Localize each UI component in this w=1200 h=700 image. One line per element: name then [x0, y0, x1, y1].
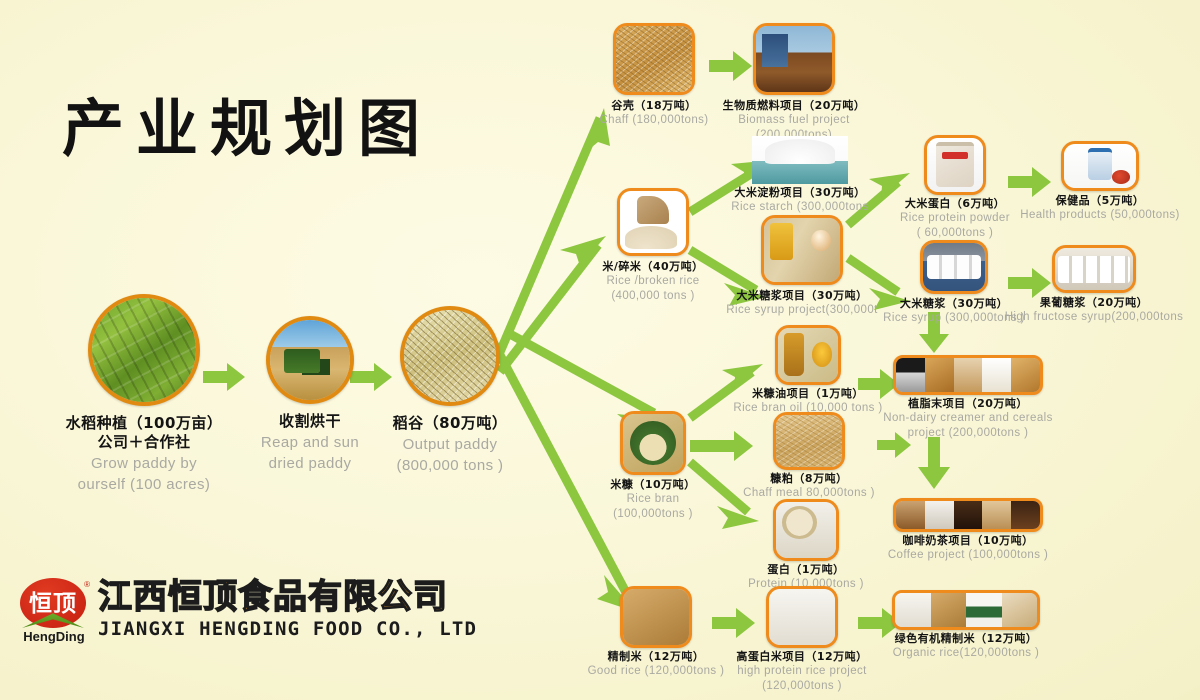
coffee-project-label-cn: 咖啡奶茶项目（10万吨）: [863, 534, 1073, 548]
rice-starch-label-cn: 大米淀粉项目（30万吨）: [695, 186, 905, 200]
company-logo-block: 恒顶 ® HengDing 江西恒顶食品有限公司 JIANGXI HENGDIN…: [18, 578, 477, 642]
biomass-photo: [753, 23, 835, 95]
rice-starch-photo: [752, 136, 848, 184]
node-good-rice[interactable]: 精制米（12万吨） Good rice (120,000tons ): [620, 586, 692, 648]
coffee-project-label-en: Coffee project (100,000tons ): [863, 549, 1073, 563]
fructose-syrup-label-en: High fructose syrup(200,000tons: [989, 311, 1199, 325]
logo-mark-en: HengDing: [18, 629, 90, 644]
node-rice-syrup-project[interactable]: 大米糖浆项目（30万吨） Rice syrup project(300,000t: [761, 215, 843, 285]
node-rice-broken-rice[interactable]: 米/碎米（40万吨） Rice /broken rice (400,000 to…: [617, 188, 689, 256]
industry-planning-diagram: 产业规划图 水稻种植（100万亩） 公司＋合作社 Grow paddy by o…: [0, 0, 1200, 700]
reap-photo: [266, 316, 354, 404]
rice-starch-label-en: Rice starch (300,000tons: [695, 201, 905, 215]
company-name-block: 江西恒顶食品有限公司 JIANGXI HENGDING FOOD CO., LT…: [98, 580, 477, 640]
organic-rice-caption: 绿色有机精制米（12万吨） Organic rice(120,000tons ): [861, 632, 1071, 661]
non-dairy-creamer-label-cn: 植脂末项目（20万吨）: [868, 397, 1068, 411]
block-arrow-reap-to-output: [350, 363, 392, 391]
rice-broken-label-en-1: Rice /broken rice: [563, 275, 743, 289]
non-dairy-creamer-photo: [893, 355, 1043, 395]
health-products-photo: [1061, 141, 1139, 191]
high-protein-rice-label-en-1: high protein rice project: [717, 665, 887, 679]
high-protein-rice-photo: [766, 586, 838, 648]
node-non-dairy-creamer[interactable]: 植脂末项目（20万吨） Non-dairy creamer and cereal…: [893, 355, 1043, 395]
block-arrow-grow-to-reap: [203, 363, 245, 391]
rice-bran-label-cn: 米糠（10万吨）: [573, 478, 733, 492]
node-health-products[interactable]: 保健品（5万吨） Health products (50,000tons): [1061, 141, 1139, 191]
non-dairy-creamer-caption: 植脂末项目（20万吨） Non-dairy creamer and cereal…: [868, 397, 1068, 440]
output-paddy-label-en-2: (800,000 tons ): [350, 457, 550, 475]
biomass-label-en-1: Biomass fuel project: [709, 114, 879, 128]
health-products-caption: 保健品（5万吨） Health products (50,000tons): [1000, 194, 1200, 223]
organic-rice-photo: [892, 590, 1040, 630]
output-paddy-caption: 稻谷（80万吨） Output paddy (800,000 tons ): [350, 414, 550, 475]
node-rice-bran[interactable]: 米糠（10万吨） Rice bran (100,000tons ): [620, 411, 686, 475]
good-rice-photo: [620, 586, 692, 648]
chaff-photo: [613, 23, 695, 95]
block-arrow-chaff-to-biomass: [709, 51, 752, 81]
protein-photo: [773, 499, 839, 561]
company-name-cn: 江西恒顶食品有限公司: [98, 580, 477, 616]
output-paddy-label-cn: 稻谷（80万吨）: [350, 414, 550, 433]
company-name-en: JIANGXI HENGDING FOOD CO., LTD: [98, 618, 477, 640]
node-coffee-project[interactable]: 咖啡奶茶项目（10万吨） Coffee project (100,000tons…: [893, 498, 1043, 532]
node-reap-dry[interactable]: 收割烘干 Reap and sun dried paddy: [266, 316, 354, 404]
rice-protein-powder-label-en-2: ( 60,000tons ): [885, 227, 1025, 241]
block-arrow-bran-to-branmeal: [690, 431, 753, 461]
node-grow-paddy[interactable]: 水稻种植（100万亩） 公司＋合作社 Grow paddy by ourself…: [88, 294, 200, 406]
node-rice-syrup[interactable]: 大米糖浆（30万吨） Rice syrup (300,000tons ): [920, 240, 988, 294]
node-protein[interactable]: 蛋白（1万吨） Protein (10,000tons ): [773, 499, 839, 561]
protein-label-cn: 蛋白（1万吨）: [716, 563, 896, 577]
node-rice-bran-oil[interactable]: 米糠油项目（1万吨） Rice bran oil (10,000 tons ): [775, 325, 841, 385]
coffee-project-photo: [893, 498, 1043, 532]
rice-syrup-photo: [920, 240, 988, 294]
non-dairy-creamer-label-en-2: project (200,000tons ): [868, 427, 1068, 441]
health-products-label-en: Health products (50,000tons): [1000, 209, 1200, 223]
rice-broken-photo: [617, 188, 689, 256]
non-dairy-creamer-label-en-1: Non-dairy creamer and cereals: [868, 412, 1068, 426]
node-high-protein-rice[interactable]: 高蛋白米项目（12万吨） high protein rice project (…: [766, 586, 838, 648]
health-products-label-cn: 保健品（5万吨）: [1000, 194, 1200, 208]
chaff-meal-caption: 糠粕（8万吨） Chaff meal 80,000tons ): [714, 472, 904, 501]
output-paddy-label-en-1: Output paddy: [350, 436, 550, 454]
node-biomass-fuel[interactable]: 生物质燃料项目（20万吨） Biomass fuel project (200,…: [753, 23, 835, 95]
high-protein-rice-label-en-2: (120,000tons ): [717, 680, 887, 694]
rice-starch-caption: 大米淀粉项目（30万吨） Rice starch (300,000tons: [695, 186, 905, 215]
output-paddy-photo: [400, 306, 500, 406]
fructose-syrup-label-cn: 果葡糖浆（20万吨）: [989, 296, 1199, 310]
coffee-project-caption: 咖啡奶茶项目（10万吨） Coffee project (100,000tons…: [863, 534, 1073, 563]
node-chaff-meal[interactable]: 糠粕（8万吨） Chaff meal 80,000tons ): [773, 412, 845, 470]
grow-paddy-label-en-2: ourself (100 acres): [29, 476, 259, 494]
fructose-syrup-photo: [1052, 245, 1136, 293]
chaff-meal-photo: [773, 412, 845, 470]
rice-bran-photo: [620, 411, 686, 475]
rice-broken-label-cn: 米/碎米（40万吨）: [563, 260, 743, 274]
node-rice-protein-powder[interactable]: 大米蛋白（6万吨） Rice protein powder ( 60,000to…: [924, 135, 986, 195]
grow-paddy-photo: [88, 294, 200, 406]
rice-bran-oil-photo: [775, 325, 841, 385]
rice-bran-label-en-1: Rice bran: [573, 493, 733, 507]
page-title: 产业规划图: [62, 78, 432, 168]
organic-rice-label-en: Organic rice(120,000tons ): [861, 647, 1071, 661]
biomass-label-cn: 生物质燃料项目（20万吨）: [709, 99, 879, 113]
rice-protein-powder-photo: [924, 135, 986, 195]
block-arrow-syrup-to-fructose: [1008, 268, 1051, 298]
block-arrow-protein-to-health: [1008, 167, 1051, 197]
hengding-logo-icon: 恒顶 ® HengDing: [18, 578, 90, 642]
node-fructose-syrup[interactable]: 果葡糖浆（20万吨） High fructose syrup(200,000to…: [1052, 245, 1136, 293]
node-chaff[interactable]: 谷壳（18万吨） Chaff (180,000tons): [613, 23, 695, 95]
node-rice-starch[interactable]: 大米淀粉项目（30万吨） Rice starch (300,000tons: [752, 136, 848, 184]
rice-bran-caption: 米糠（10万吨） Rice bran (100,000tons ): [573, 478, 733, 521]
fructose-syrup-caption: 果葡糖浆（20万吨） High fructose syrup(200,000to…: [989, 296, 1199, 325]
rice-bran-label-en-2: (100,000tons ): [573, 508, 733, 522]
logo-mark-cn: 恒顶: [18, 584, 88, 618]
block-arrow-goodrice-to-highprotein: [712, 608, 755, 638]
block-arrow-creamer-to-coffee: [918, 437, 950, 489]
node-organic-rice[interactable]: 绿色有机精制米（12万吨） Organic rice(120,000tons ): [892, 590, 1040, 630]
chaff-meal-label-cn: 糠粕（8万吨）: [714, 472, 904, 486]
node-output-paddy[interactable]: 稻谷（80万吨） Output paddy (800,000 tons ): [400, 306, 500, 406]
organic-rice-label-cn: 绿色有机精制米（12万吨）: [861, 632, 1071, 646]
rice-syrup-project-photo: [761, 215, 843, 285]
